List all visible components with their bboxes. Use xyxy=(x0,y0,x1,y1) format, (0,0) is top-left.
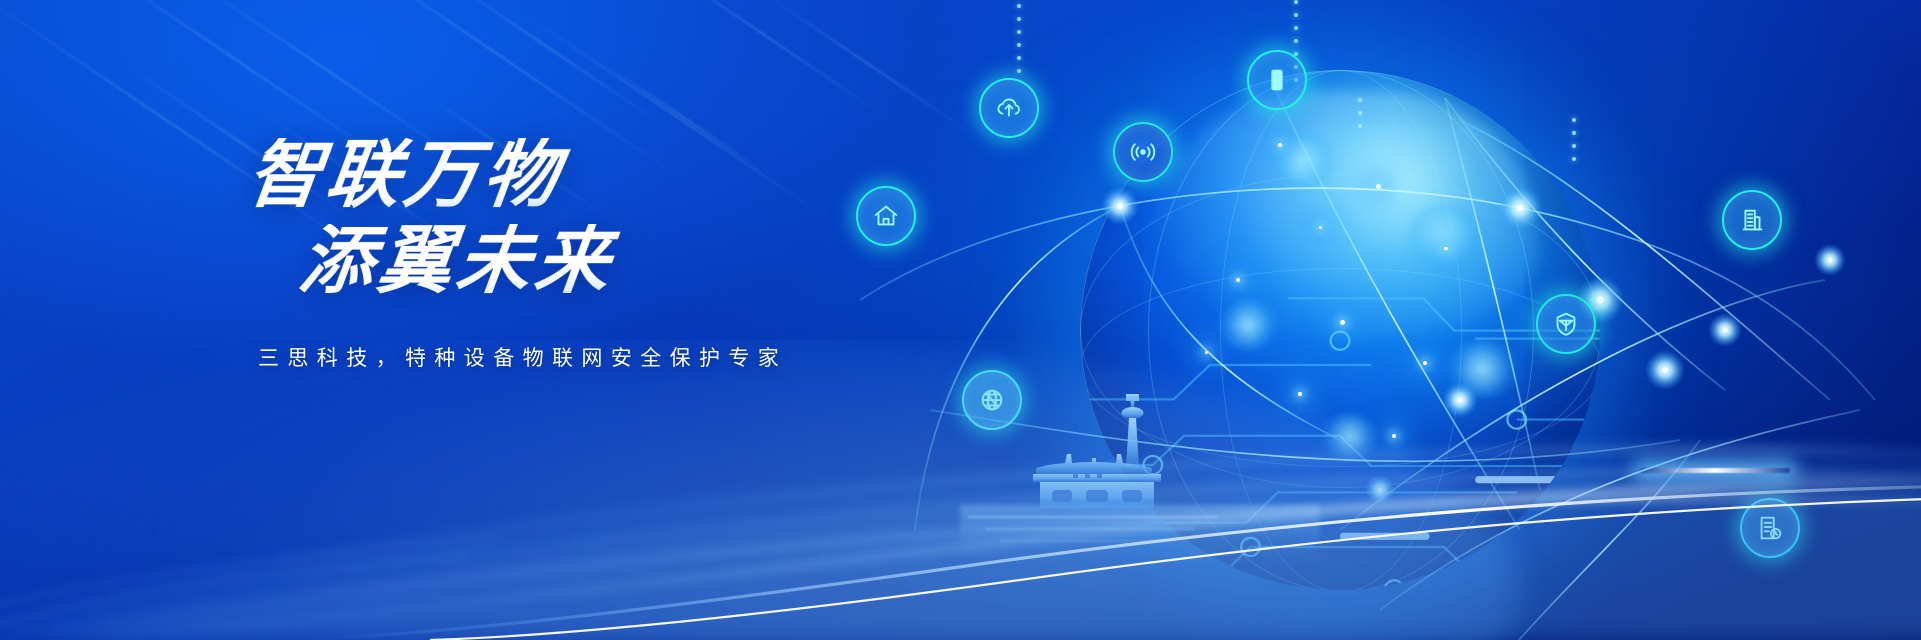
water-reflection xyxy=(960,505,1320,565)
water-line xyxy=(968,516,1218,518)
mobile-phone-glyph xyxy=(1262,65,1292,95)
shield-icon[interactable] xyxy=(1536,294,1596,354)
cloud-upload-icon[interactable] xyxy=(979,78,1039,138)
building-icon[interactable] xyxy=(1722,190,1782,250)
water-line xyxy=(1000,540,1170,542)
headline-line-1: 智联万物 xyxy=(243,138,1012,212)
hero-copy: 智联万物 添翼未来 三思科技，特种设备物联网安全保护专家 xyxy=(248,138,1008,372)
landmark-silhouette xyxy=(1000,380,1190,520)
mobile-phone-icon[interactable] xyxy=(1247,50,1307,110)
water-line xyxy=(985,528,1195,530)
cloud-upload-glyph xyxy=(994,93,1024,123)
dotted-drop-line xyxy=(1572,118,1576,170)
document-report-icon[interactable] xyxy=(1740,498,1800,558)
wifi-signal-glyph xyxy=(1128,137,1158,167)
dotted-drop-line xyxy=(1358,98,1362,137)
headline-line-2: 添翼未来 xyxy=(295,224,1012,298)
shield-glyph xyxy=(1551,309,1581,339)
dotted-drop-line xyxy=(1017,4,1021,82)
wifi-signal-icon[interactable] xyxy=(1113,122,1173,182)
subtitle-text: 三思科技，特种设备物联网安全保护专家 xyxy=(258,342,1008,372)
hero-banner: 智联万物 添翼未来 三思科技，特种设备物联网安全保护专家 xyxy=(0,0,1921,640)
document-report-glyph xyxy=(1755,513,1785,543)
building-glyph xyxy=(1737,205,1767,235)
